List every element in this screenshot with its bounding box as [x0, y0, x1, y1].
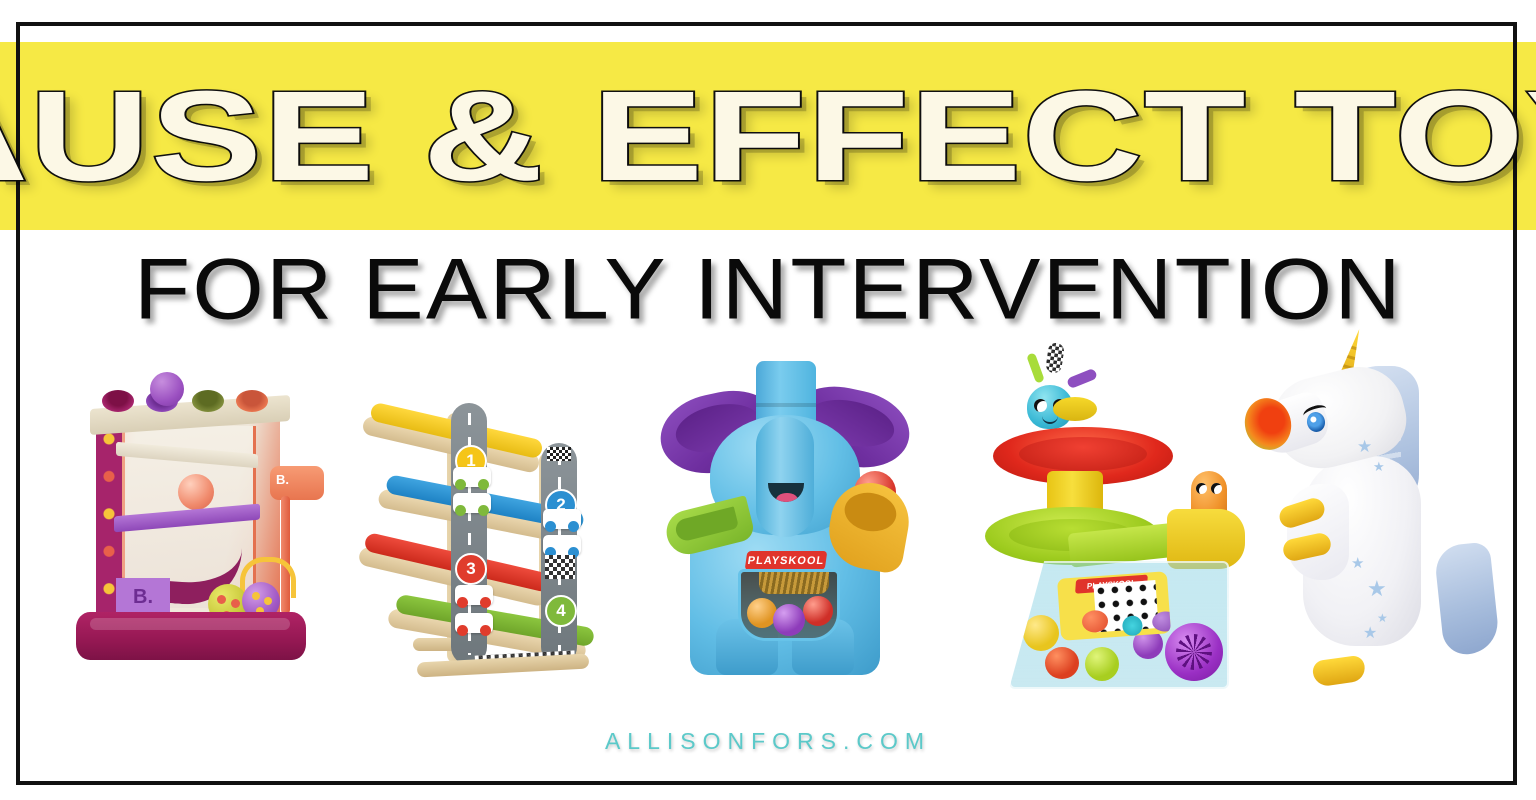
elephant-hopper-ball-purple — [773, 604, 805, 636]
racer-car-green-2 — [453, 493, 491, 513]
tower-hammer-head — [270, 466, 324, 500]
popper-spinner-teal — [1122, 615, 1143, 636]
racer-car-red-1 — [455, 585, 493, 605]
unicorn-star-6: ★ — [1363, 626, 1377, 642]
watermark-url: ALLISONFORS.COM — [605, 728, 931, 754]
popper-fan-purple — [1165, 623, 1223, 681]
popper-ball-green — [1085, 647, 1119, 681]
unicorn-star-5: ★ — [1377, 612, 1388, 624]
racer-car-green-1 — [453, 467, 491, 487]
tower-brand-mark: B. — [116, 578, 170, 616]
tower-base — [76, 612, 306, 660]
popper-tube-yellow — [1167, 509, 1245, 569]
tower-ball-orange — [178, 474, 214, 510]
tower-hole-olive — [192, 390, 224, 412]
tower-ball-purple — [150, 372, 184, 406]
unicorn-star-2: ★ — [1373, 460, 1385, 473]
unicorn-star-3: ★ — [1351, 556, 1364, 571]
elephant-trunk — [756, 417, 814, 537]
title-block: CAUSE & EFFECT TOYS — [0, 62, 1536, 212]
toy-image-unicorn-popper: ★ ★ ★ ★ ★ ★ — [1245, 320, 1495, 680]
toy-image-playskool-busy-ball-popper: PLAYSKOOL — [985, 375, 1245, 685]
tower-hole-magenta — [102, 390, 134, 412]
racer-checkered-flag-icon — [547, 447, 571, 461]
racer-car-red-2 — [455, 613, 493, 633]
popper-clear-base: PLAYSKOOL — [1009, 561, 1229, 689]
racer-base-rail — [417, 654, 590, 678]
popper-bug-smile — [1042, 415, 1058, 424]
popper-tray-hole — [1053, 397, 1097, 421]
page-title: CAUSE & EFFECT TOYS — [0, 73, 1536, 201]
racer-car-blue-1 — [543, 509, 581, 529]
toy-image-hape-wooden-ramp-racer: 1 3 2 4 — [355, 385, 625, 685]
popper-snail-eyes — [1196, 483, 1222, 494]
elephant-brand-mark: PLAYSKOOL — [745, 551, 828, 570]
unicorn-star-1: ★ — [1357, 438, 1372, 455]
racer-checker-strip-right — [545, 555, 575, 579]
poster-canvas: CAUSE & EFFECT TOYS FOR EARLY INTERVENTI… — [0, 0, 1536, 800]
page-subtitle: FOR EARLY INTERVENTION — [134, 247, 1403, 333]
racer-car-blue-2 — [543, 535, 581, 555]
elephant-hopper-grill — [759, 572, 829, 594]
toy-image-playskool-elefun-busy-ball-popper: PLAYSKOOL — [660, 355, 910, 675]
toy-image-b-toys-pound-and-roll-tower: B. — [70, 370, 320, 660]
racer-lane-number-4: 4 — [545, 595, 577, 627]
unicorn-star-4: ★ — [1367, 578, 1387, 600]
popper-ball-yellow — [1023, 615, 1059, 651]
toy-row: B. 1 3 2 — [0, 330, 1536, 730]
unicorn-hoof — [1311, 655, 1366, 688]
popper-antenna-checkered — [1045, 342, 1065, 374]
popper-antenna-green — [1026, 352, 1045, 383]
racer-lane-number-3: 3 — [455, 553, 487, 585]
popper-inner-sticker: PLAYSKOOL — [1057, 571, 1171, 641]
popper-antenna-purple — [1066, 368, 1098, 389]
elephant-hopper-ball-red — [803, 596, 833, 626]
unicorn-tail — [1433, 541, 1500, 656]
tower-hole-orange — [236, 390, 268, 412]
elephant-ball-hopper — [738, 569, 840, 641]
popper-ball-red — [1045, 647, 1079, 679]
subtitle-block: FOR EARLY INTERVENTION — [0, 245, 1536, 335]
footer-block: ALLISONFORS.COM — [0, 728, 1536, 755]
